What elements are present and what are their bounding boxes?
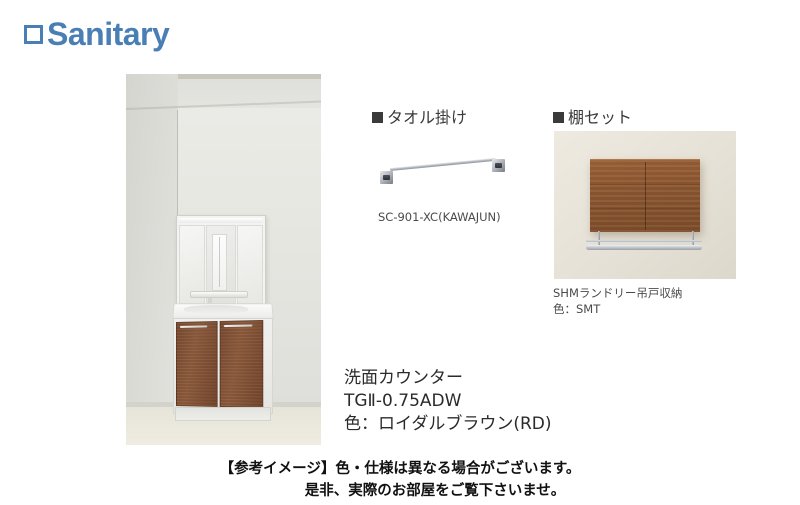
towel-bar-mount-left — [380, 171, 393, 184]
cabinet-door-seam — [645, 162, 646, 230]
towel-bar-photo — [374, 150, 510, 192]
cabinet-door-right — [220, 320, 264, 408]
disclaimer-line1: 【参考イメージ】色・仕様は異なる場合がございます。 — [0, 458, 800, 480]
wood-grain-band — [590, 184, 700, 185]
towel-rack-heading-text: タオル掛け — [387, 108, 467, 127]
shelf-set-photo — [554, 131, 736, 279]
shelf-set-caption-line2: 色：SMT — [553, 301, 600, 318]
cabinet-kickplate — [175, 407, 271, 421]
mirror-light-bar — [179, 218, 263, 223]
cabinet-doors — [176, 320, 263, 408]
shelf-set-caption-line1: SHMランドリー吊戸収納 — [553, 285, 682, 302]
white-square-icon — [24, 25, 43, 44]
black-square-bullet-icon — [553, 112, 564, 123]
wall-left — [126, 74, 178, 410]
reference-image-disclaimer: 【参考イメージ】色・仕様は異なる場合がございます。 是非、実際のお部屋をご覧下さ… — [0, 458, 800, 503]
towel-bar-rod — [390, 158, 496, 171]
vanity-caption-line3: 色：ロイダルブラウン(RD) — [344, 411, 552, 437]
hanging-rail — [586, 245, 702, 250]
basin — [184, 305, 248, 314]
cabinet-door-left — [176, 321, 218, 407]
shelf-set-heading: 棚セット — [553, 104, 632, 128]
page-title: Sanitary — [24, 16, 169, 53]
disclaimer-line2: 是非、実際のお部屋をご覧下さいませ。 — [0, 480, 800, 502]
reflected-window — [212, 234, 226, 291]
wall-cabinet — [590, 159, 700, 232]
black-square-bullet-icon — [372, 112, 383, 123]
wood-grain-band — [590, 208, 700, 209]
shelf-set-heading-text: 棚セット — [568, 108, 632, 127]
sanitary-spec-sheet: Sanitary — [0, 0, 800, 505]
towel-bar-mount-right — [492, 159, 505, 172]
towel-rack-heading: タオル掛け — [372, 104, 467, 128]
towel-rack-caption: SC-901-XC(KAWAJUN) — [378, 209, 501, 226]
faucet-spout — [190, 291, 248, 298]
page-title-text: Sanitary — [47, 16, 169, 52]
vanity-photo — [126, 74, 321, 445]
hanging-rail-upper — [586, 240, 702, 242]
